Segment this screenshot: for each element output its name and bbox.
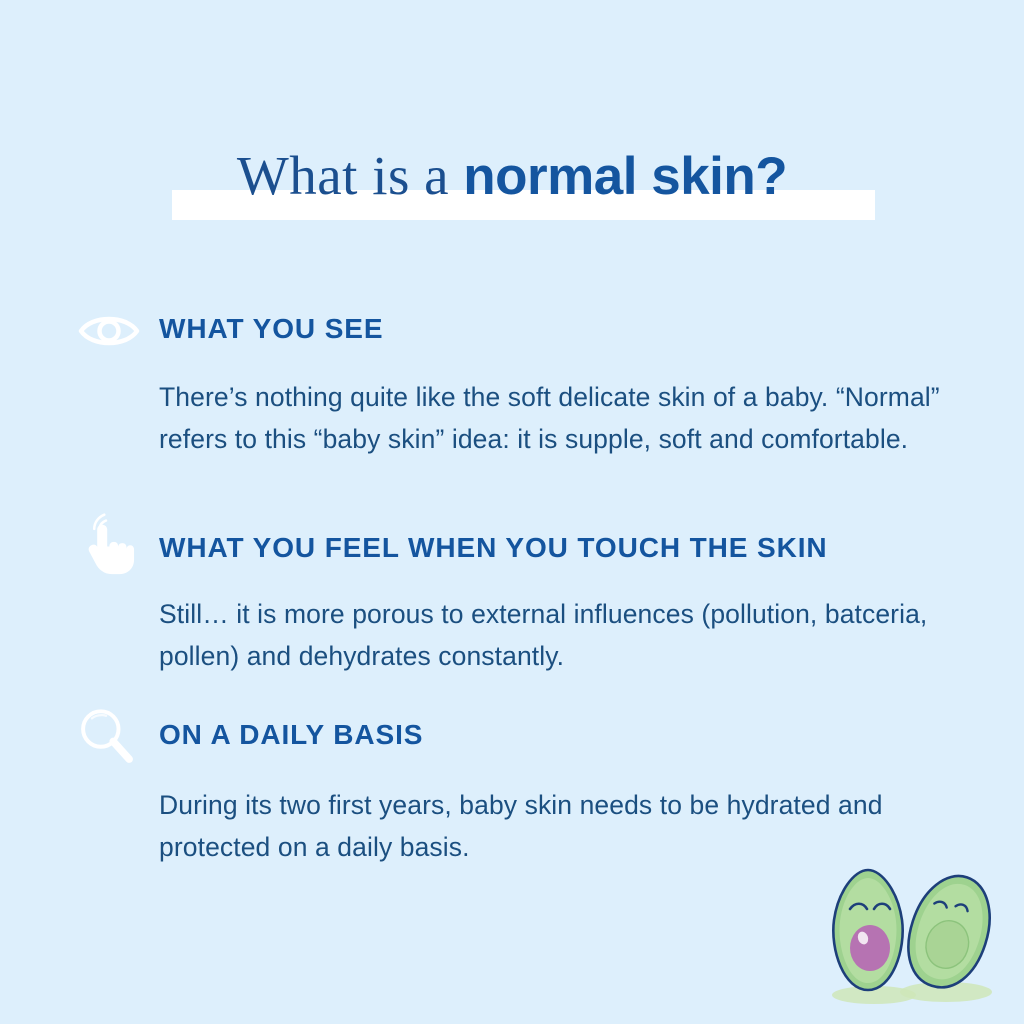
section-heading-label: WHAT YOU SEE — [159, 300, 383, 362]
section-body-text: There’s nothing quite like the soft deli… — [159, 376, 989, 460]
page-canvas: What is a normal skin? WHAT YOU SEE Ther… — [0, 0, 1024, 1024]
eye-icon — [76, 300, 142, 362]
avocado-right — [896, 866, 1004, 998]
section-heading-label: WHAT YOU FEEL WHEN YOU TOUCH THE SKIN — [159, 519, 828, 581]
section-heading-row: WHAT YOU FEEL WHEN YOU TOUCH THE SKIN — [0, 519, 1024, 581]
section-paragraph: Still… it is more porous to external inf… — [159, 593, 989, 677]
section-heading-label: ON A DAILY BASIS — [159, 706, 423, 768]
section-paragraph: There’s nothing quite like the soft deli… — [159, 376, 989, 460]
avocado-left — [833, 870, 902, 990]
title-bold-part: normal skin? — [463, 147, 787, 206]
section-heading-row: WHAT YOU SEE — [0, 300, 1024, 362]
title-text: What is a normal skin? — [0, 140, 1024, 226]
page-title: What is a normal skin? — [0, 140, 1024, 235]
title-serif-part: What is a — [237, 145, 463, 206]
section-body-text: During its two first years, baby skin ne… — [159, 784, 989, 868]
magnifier-icon — [74, 706, 140, 768]
section-on-a-daily-basis: ON A DAILY BASIS During its two first ye… — [0, 706, 1024, 768]
section-paragraph: During its two first years, baby skin ne… — [159, 784, 989, 868]
section-body-text: Still… it is more porous to external inf… — [159, 593, 989, 677]
avocado-left-pit — [850, 925, 890, 971]
two-avocados-illustration — [806, 862, 1006, 1022]
section-what-you-see: WHAT YOU SEE There’s nothing quite like … — [0, 300, 1024, 362]
touch-hand-icon — [78, 513, 144, 575]
section-what-you-feel: WHAT YOU FEEL WHEN YOU TOUCH THE SKIN St… — [0, 519, 1024, 581]
section-heading-row: ON A DAILY BASIS — [0, 706, 1024, 768]
